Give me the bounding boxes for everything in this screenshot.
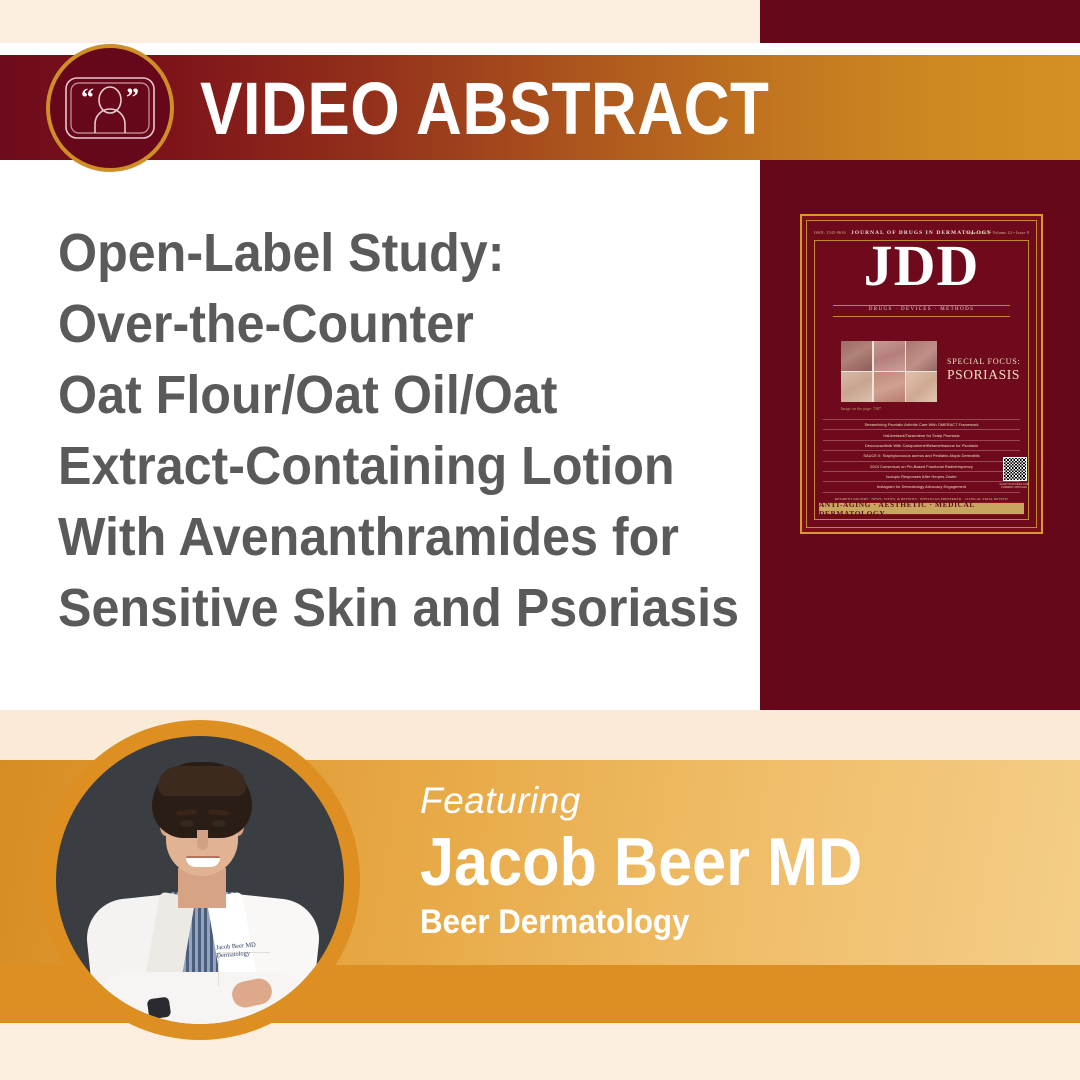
speaker-affiliation: Beer Dermatology [420, 902, 990, 942]
cover-special-focus: SPECIAL FOCUS: PSORIASIS [947, 357, 1037, 383]
cover-photo-cell [874, 341, 905, 371]
article-title-line: With Avenanthramides for [58, 502, 672, 573]
hair [152, 762, 252, 838]
cover-focus-topic: PSORIASIS [947, 367, 1037, 383]
nose [197, 830, 208, 850]
cover-photo-caption: Image on the page: 7387 [841, 407, 881, 411]
cover-tagline: DRUGS · DEVICES · METHODS [807, 307, 1036, 312]
speaker-avatar-ring: Jacob Beer MD Dermatology [40, 720, 360, 1040]
featuring-label: Featuring [420, 780, 1040, 822]
video-quote-person-icon: “ ” [46, 44, 174, 172]
poster-canvas: VIDEO ABSTRACT “ ” Open-Label Study: Ove… [0, 0, 1080, 1080]
qr-code-label: SCAN TO ACCESS OUR CURRENT ARTICLES [996, 483, 1032, 490]
cover-divider-bottom [833, 316, 1010, 317]
top-right-maroon-block [760, 0, 1080, 43]
cover-article-item: Deucravacitinib With Calcipotriene/Betam… [823, 441, 1020, 451]
cover-gold-band: ANTI-AGING · AESTHETIC · MEDICAL DERMATO… [819, 502, 1024, 515]
article-title: Open-Label Study: Over-the-Counter Oat F… [58, 218, 672, 644]
article-title-line: Sensitive Skin and Psoriasis [58, 573, 672, 644]
cover-photo-grid [841, 341, 937, 402]
eye-left [180, 820, 194, 827]
cover-photo-cell [906, 372, 937, 402]
cover-photo-cell [841, 341, 872, 371]
cover-photo-cell [906, 341, 937, 371]
video-quote-person-icon-svg: “ ” [64, 76, 156, 140]
header-title: VIDEO ABSTRACT [200, 60, 802, 156]
cover-article-item: Instagram for Dermatology Advocacy Engag… [823, 482, 1020, 492]
cover-article-item: SAUCE II: Staphylococcus aureus and Pedi… [823, 451, 1020, 461]
cover-photo-cell [841, 372, 872, 402]
cover-article-list: Streamlining Psoriatic Arthritis Care Wi… [823, 419, 1020, 493]
speaker-avatar: Jacob Beer MD Dermatology [56, 736, 344, 1024]
article-title-line: Open-Label Study: [58, 218, 672, 289]
svg-text:”: ” [126, 83, 139, 112]
article-title-line: Oat Flour/Oat Oil/Oat [58, 360, 672, 431]
cover-article-item: 2024 Consensus on Pin-Based Fractional R… [823, 462, 1020, 472]
cover-article-item: Streamlining Psoriatic Arthritis Care Wi… [823, 419, 1020, 430]
article-title-line: Extract-Containing Lotion [58, 431, 672, 502]
qr-code-icon[interactable] [1003, 457, 1027, 481]
cover-focus-label: SPECIAL FOCUS: [947, 357, 1037, 366]
cover-article-item: Halobetasol/Tazarotene for Scalp Psorias… [823, 430, 1020, 440]
cover-divider-top [833, 305, 1010, 306]
speaker-name: Jacob Beer MD [420, 824, 978, 900]
cover-photo-cell [874, 372, 905, 402]
article-title-line: Over-the-Counter [58, 289, 672, 360]
cover-logo: JDD [807, 235, 1036, 297]
cover-article-item: Isotopic Responses After Herpes Zoster [823, 472, 1020, 482]
mouth [186, 856, 220, 867]
journal-cover[interactable]: ISSN: 1545-9616 August 2025 • Volume 24 … [800, 214, 1043, 534]
crossed-arms [100, 972, 308, 1024]
svg-text:“: “ [81, 83, 94, 112]
feature-text-block: Featuring Jacob Beer MD Beer Dermatology [420, 780, 1040, 942]
wristwatch [147, 997, 172, 1020]
eye-right [212, 820, 226, 827]
journal-cover-inner: ISSN: 1545-9616 August 2025 • Volume 24 … [806, 220, 1037, 528]
